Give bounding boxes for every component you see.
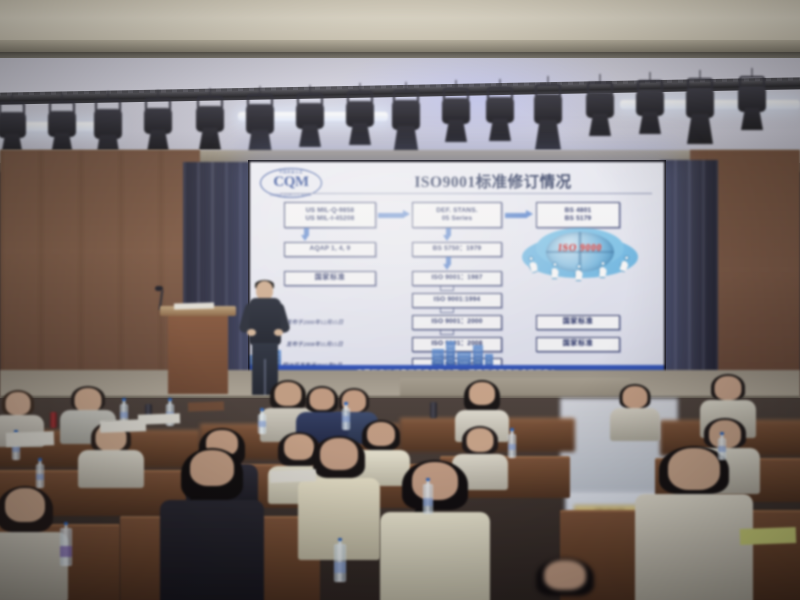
flow-box-bs5750: BS 5750：1979: [412, 242, 502, 257]
stage-curtain-right: [660, 160, 718, 395]
lectern-notes: [174, 302, 214, 309]
flow-box-line1: BS 5750：1979: [433, 245, 482, 253]
paper-notes: [6, 431, 54, 447]
arrow-down-left-1: [304, 228, 309, 236]
connector-1994-2000: [440, 308, 454, 313]
lectern-podium: [168, 312, 228, 394]
flow-box-line1: US MIL-Q-9858: [306, 207, 354, 215]
flow-box-line1: ISO 9001:1994: [434, 296, 481, 304]
audience-member: [635, 448, 753, 600]
lecture-hall-photo: 中国质量认证 CQM CHINA QUALITY MARK ISO9001标准修…: [0, 0, 800, 600]
flow-box-line1: BS 4801: [565, 207, 592, 215]
audience-member: [610, 386, 660, 440]
iso9000-globe-icon: ISO 9000: [522, 228, 638, 284]
presenter-speaker: [243, 281, 287, 396]
microphone-head-icon: [155, 286, 163, 291]
paper-notes: [188, 401, 224, 411]
arrow-right-2: [505, 213, 527, 218]
audience-member: [78, 424, 144, 486]
flow-box-line2: US MIL-I-45208: [305, 215, 354, 223]
flow-box-line1: DEF. STANS.: [436, 207, 477, 215]
globe-figure-icon: [598, 261, 607, 278]
audience-member: [160, 450, 264, 600]
wall-light-glow: [330, 58, 630, 158]
flow-box-line1: 国家标准: [563, 318, 593, 327]
flow-box-line2: 05 Series: [442, 215, 472, 223]
flow-box-line1: 国家标准: [315, 274, 345, 283]
audience-member: [380, 462, 490, 600]
globe-figure-icon: [550, 262, 559, 279]
flow-box-line1: ISO 9001：2000: [431, 318, 482, 326]
paper-notes: [740, 527, 797, 545]
paper-notes: [138, 413, 180, 424]
flow-box-def-stans: DEF. STANS. 05 Series: [412, 202, 502, 228]
connector-2000-2008: [440, 330, 454, 335]
audience-member: [0, 488, 68, 600]
flow-box-guojia-1: 国家标准: [284, 271, 376, 286]
date-label-2000: 发布于2000年12月15日: [286, 318, 343, 326]
flow-box-us-mil: US MIL-Q-9858 US MIL-I-45208: [284, 202, 376, 228]
flow-box-bs-uk: BS 4801 BS 5179: [536, 202, 620, 228]
slide-title: ISO9001标准修订情况: [368, 170, 618, 192]
flow-box-aqap: AQAP 1, 4, 9: [284, 242, 376, 257]
globe-figure-icon: [574, 264, 583, 281]
thermos-flask: [430, 402, 437, 418]
flow-box-iso1994: ISO 9001:1994: [412, 293, 502, 308]
ceiling: [0, 0, 800, 44]
title-divider: [280, 193, 652, 194]
flow-box-line2: BS 5179: [565, 215, 592, 223]
flow-box-line1: AQAP 1, 4, 9: [310, 245, 351, 253]
arrow-down-center-1: [446, 228, 451, 236]
slide-cityscape: [250, 339, 664, 365]
flow-box-guojia-2: 国家标准: [536, 315, 620, 330]
flow-box-iso1987: ISO 9001：1987: [412, 271, 502, 286]
flow-box-iso2000: ISO 9001：2000: [412, 315, 502, 330]
arrow-right-1: [378, 213, 404, 218]
thermos-flask: [50, 412, 57, 428]
flow-box-line1: ISO 9001：1987: [431, 274, 482, 282]
presentation-slide: 中国质量认证 CQM CHINA QUALITY MARK ISO9001标准修…: [250, 162, 664, 379]
connector-1987-1994: [440, 286, 454, 291]
arrow-down-center-2: [446, 257, 451, 265]
paper-notes: [270, 469, 316, 483]
audience-member: [520, 560, 610, 600]
cqm-logo-letters: CQM: [273, 174, 308, 191]
globe-iso-label: ISO 9000: [558, 243, 603, 254]
